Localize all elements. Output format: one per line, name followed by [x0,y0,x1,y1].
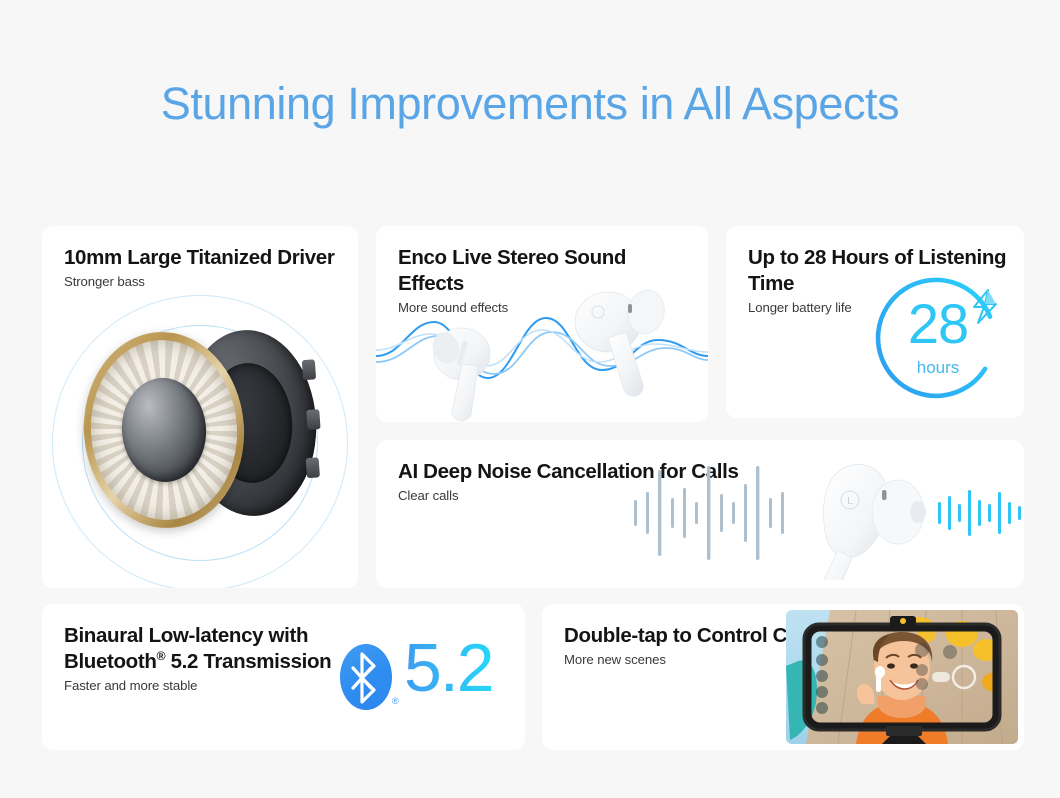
selfie-photo-illustration [786,610,1018,744]
magnet-notch [306,457,320,478]
camera-graphic [786,610,1018,744]
feature-card-anc: AI Deep Noise Cancellation for Calls Cle… [376,440,1024,588]
card-text-driver: 10mm Large Titanized Driver Stronger bas… [64,245,346,289]
magnet-notch [302,359,316,380]
page-title: Stunning Improvements in All Aspects [0,78,1060,130]
magnet-notch [306,409,320,430]
card-title-driver: 10mm Large Titanized Driver [64,245,346,271]
bluetooth-title-line2-prefix: Bluetooth [64,650,157,673]
bluetooth-registered-mark: ® [392,696,399,706]
bluetooth-title-line1: Binaural Low-latency with [64,624,308,647]
earbuds-waveform-illustration [376,282,708,422]
earbud-right [575,286,669,396]
earbud-anc: L [823,464,926,580]
driver-graphic [42,298,358,588]
feature-card-battery: Up to 28 Hours of Listening Time Longer … [726,226,1024,418]
noise-bars [634,466,784,560]
battery-hours-unit: hours [866,358,1010,378]
feature-card-driver: 10mm Large Titanized Driver Stronger bas… [42,226,358,588]
feature-card-bluetooth: Binaural Low-latency with Bluetooth® 5.2… [42,604,525,750]
speaker-driver-icon [84,326,322,540]
clean-bars [938,490,1021,536]
bluetooth-graphic: ® 5.2 [332,630,522,726]
svg-text:L: L [847,496,853,507]
battery-graphic: 28 hours [866,272,1016,412]
anc-graphic: L [626,448,1024,580]
noise-cancellation-illustration: L [626,448,1024,580]
card-subtitle-driver: Stronger bass [64,274,346,289]
bluetooth-icon [340,644,392,710]
bluetooth-version-label: 5.2 [404,634,493,702]
registered-mark: ® [157,649,166,663]
earbud-left [428,328,490,421]
bluetooth-title-line2-suffix: 5.2 Transmission [165,650,331,673]
feature-card-stereo: Enco Live Stereo Sound Effects More soun… [376,226,708,422]
feature-card-camera: Double-tap to Control Camera More new sc… [542,604,1024,750]
battery-hours-value: 28 [866,296,1010,352]
feature-page: Stunning Improvements in All Aspects 10m… [0,0,1060,798]
stereo-graphic [376,282,708,422]
bluetooth-rune-icon [340,644,392,710]
